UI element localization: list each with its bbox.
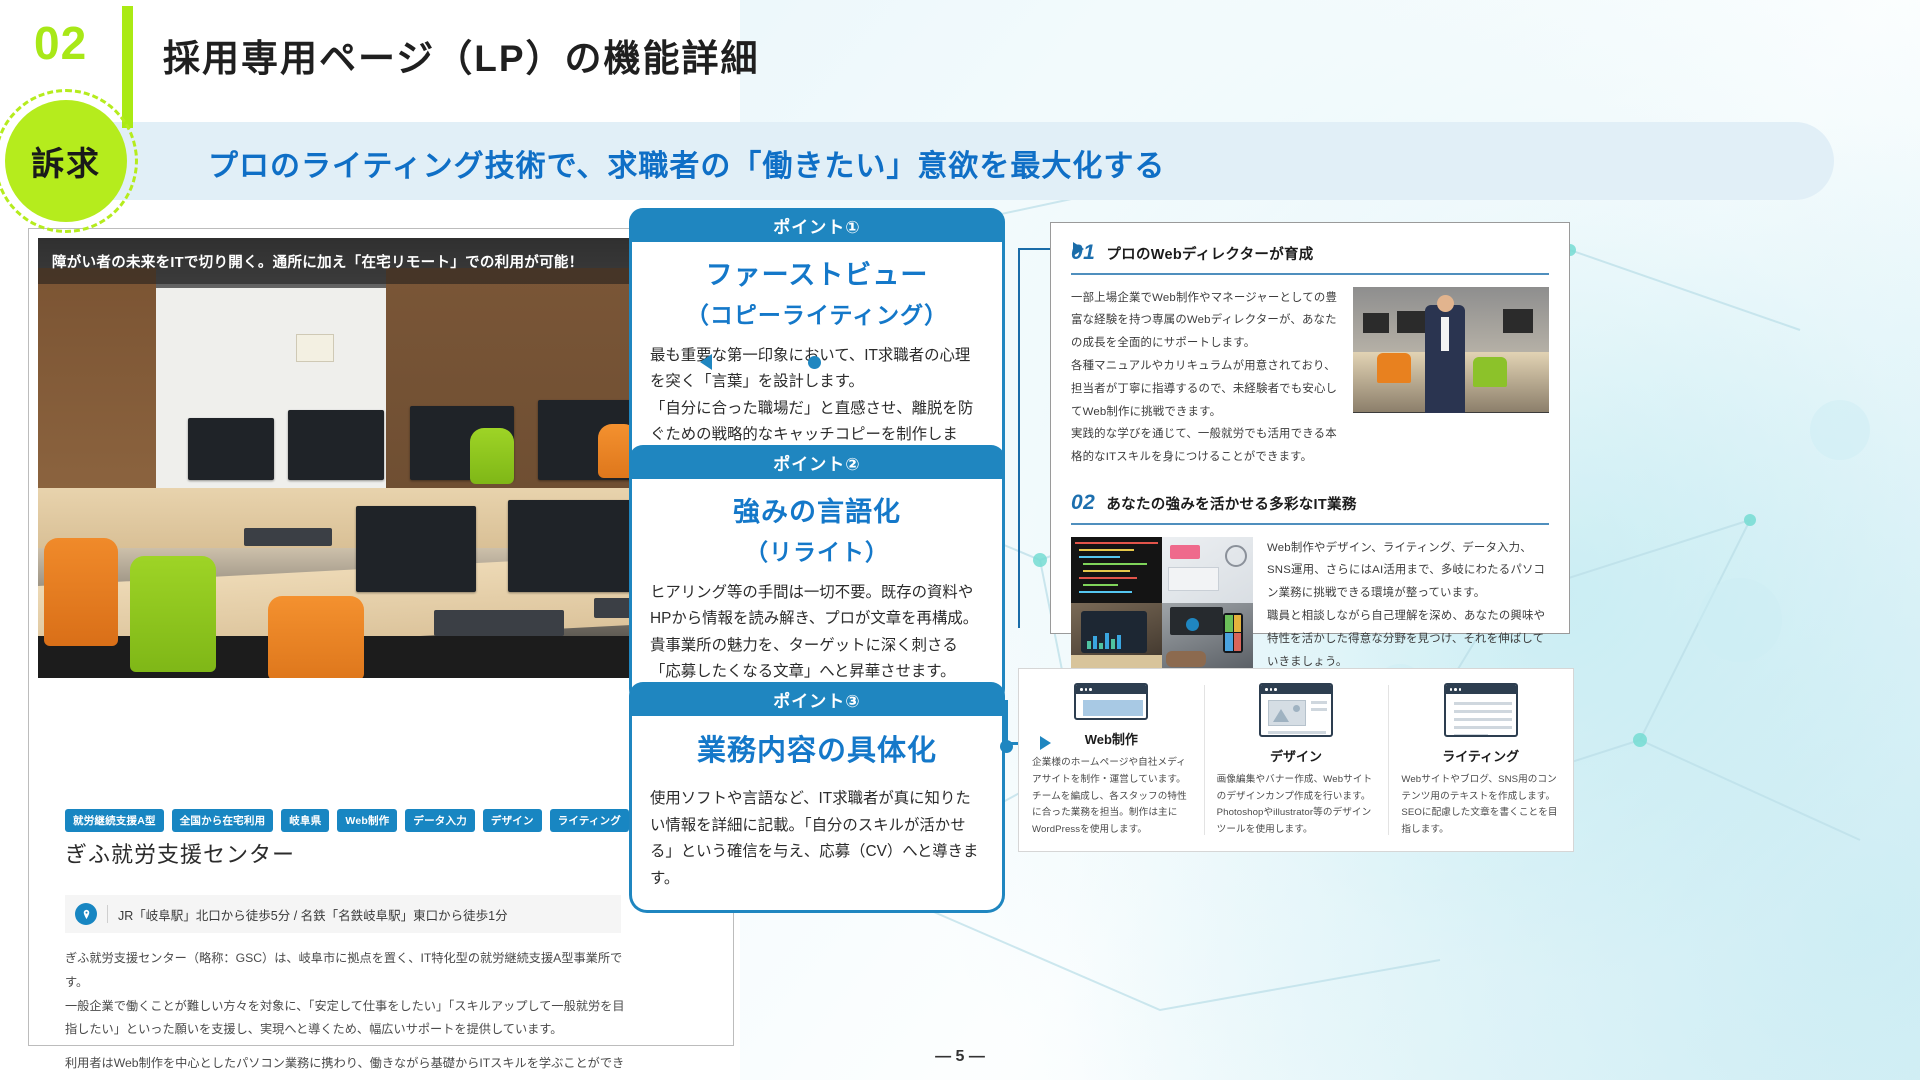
lp-hero-caption: 障がい者の未来をITで切り開く。通所に加え「在宅リモート」での利用が可能！ — [52, 251, 583, 272]
right-section-02-title: あなたの強みを活かせる多彩なIT業務 — [1106, 493, 1356, 514]
lp-hero-caption-bar: 障がい者の未来をITで切り開く。通所に加え「在宅リモート」での利用が可能！ — [38, 238, 726, 284]
lp-description-paragraph: ぎふ就労支援センター（略称：GSC）は、岐阜市に拠点を置く、IT特化型の就労継続… — [65, 947, 625, 1042]
lp-hero-image: 障がい者の未来をITで切り開く。通所に加え「在宅リモート」での利用が可能！ — [38, 238, 726, 678]
page-number: — 5 — — [0, 1048, 1920, 1066]
browser-window-icon — [1074, 683, 1148, 720]
point-card-1-subtitle: （コピーライティング） — [650, 296, 984, 330]
service-card-group: Web制作 企業様のホームページや自社メディアサイトを制作・運営しています。チー… — [1018, 668, 1574, 852]
right-section-02-rule — [1071, 523, 1549, 525]
it-work-collage-photo — [1071, 537, 1253, 669]
section-number: 02 — [34, 20, 87, 66]
lp-access-text: JR「岐阜駅」北口から徒歩5分 / 名鉄「名鉄岐阜駅」東口から徒歩1分 — [118, 905, 508, 924]
document-text-icon — [1444, 683, 1518, 737]
point-card-3-head-label: ポイント③ — [773, 687, 860, 712]
access-divider — [107, 905, 108, 923]
lp-tag: ライティング — [550, 809, 629, 832]
service-card-writing-name: ライティング — [1442, 746, 1519, 765]
point-card-3: ポイント③ 業務内容の具体化 使用ソフトや言語など、IT求職者が真に知りたい情報… — [629, 682, 1005, 913]
point-card-2-subtitle: （リライト） — [650, 533, 984, 567]
page-title: 採用専用ページ（LP）の機能詳細 — [163, 28, 760, 82]
right-detail-panel: 01 プロのWebディレクターが育成 一部上場企業でWeb制作やマネージャーとし… — [1050, 222, 1570, 634]
point-card-2-title: 強みの言語化 — [650, 495, 984, 531]
service-card-web-name: Web制作 — [1085, 729, 1138, 748]
office-photo-illustration — [38, 238, 726, 678]
lp-tag: 全国から在宅利用 — [172, 809, 274, 832]
appeal-badge: 訴求 — [5, 100, 127, 222]
service-card-design-desc: 画像編集やバナー作成、Webサイトのデザインカンプ作成を行います。Photosh… — [1217, 772, 1376, 839]
point-card-1-header: ポイント① — [629, 208, 1005, 242]
lp-tag: 岐阜県 — [281, 809, 329, 832]
service-card-writing: ライティング Webサイトやブログ、SNS用のコンテンツ用のテキストを作成します… — [1388, 669, 1573, 851]
point-card-2-header: ポイント② — [629, 445, 1005, 479]
map-pin-icon — [75, 903, 97, 925]
right-section-01-rule — [1071, 273, 1549, 275]
lp-tag: データ入力 — [405, 809, 475, 832]
lp-tag: Web制作 — [337, 809, 397, 832]
point-card-2-head-label: ポイント② — [773, 450, 860, 475]
right-section-01-title: プロのWebディレクターが育成 — [1106, 243, 1313, 264]
right-section-01: 01 プロのWebディレクターが育成 一部上場企業でWeb制作やマネージャーとし… — [1071, 241, 1549, 469]
lp-access-bar: JR「岐阜駅」北口から徒歩5分 / 名鉄「名鉄岐阜駅」東口から徒歩1分 — [65, 895, 621, 933]
service-card-web: Web制作 企業様のホームページや自社メディアサイトを制作・運営しています。チー… — [1019, 669, 1204, 851]
business-person-photo — [1353, 287, 1549, 413]
lp-tag: 就労継続支援A型 — [65, 809, 164, 832]
point-card-1-head-label: ポイント① — [773, 213, 860, 238]
lp-center-name: ぎふ就労支援センター — [65, 837, 295, 869]
appeal-headline: プロのライティング技術で、求職者の「働きたい」意欲を最大化する — [208, 141, 1165, 185]
service-card-web-desc: 企業様のホームページや自社メディアサイトを制作・運営しています。チームを編成し、… — [1032, 755, 1191, 839]
point-card-2-text: ヒアリング等の手間は一切不要。既存の資料やHPから情報を読み解き、プロが文章を再… — [650, 580, 984, 686]
service-card-writing-desc: Webサイトやブログ、SNS用のコンテンツ用のテキストを作成します。SEOに配慮… — [1401, 772, 1560, 839]
image-editor-icon — [1259, 683, 1333, 737]
service-card-design-name: デザイン — [1270, 746, 1322, 765]
point-card-3-title: 業務内容の具体化 — [650, 732, 984, 770]
point-card-3-body: 業務内容の具体化 使用ソフトや言語など、IT求職者が真に知りたい情報を詳細に記載… — [629, 716, 1005, 913]
slide-root: 02 採用専用ページ（LP）の機能詳細 訴求 プロのライティング技術で、求職者の… — [0, 0, 1920, 1080]
point-card-3-header: ポイント③ — [629, 682, 1005, 716]
point-card-3-text: 使用ソフトや言語など、IT求職者が真に知りたい情報を詳細に記載。「自分のスキルが… — [650, 786, 984, 892]
right-section-02-number: 02 — [1071, 491, 1095, 515]
point-card-2-body: 強みの言語化 （リライト） ヒアリング等の手間は一切不要。既存の資料やHPから情… — [629, 479, 1005, 707]
lp-tag: デザイン — [483, 809, 542, 832]
point-card-2: ポイント② 強みの言語化 （リライト） ヒアリング等の手間は一切不要。既存の資料… — [629, 445, 1005, 707]
appeal-badge-label: 訴求 — [31, 137, 101, 185]
right-section-01-text: 一部上場企業でWeb制作やマネージャーとしての豊富な経験を持つ専属のWebディレ… — [1071, 287, 1339, 470]
lp-tag-list: 就労継続支援A型 全国から在宅利用 岐阜県 Web制作 データ入力 デザイン ラ… — [65, 809, 718, 832]
service-card-design: デザイン 画像編集やバナー作成、Webサイトのデザインカンプ作成を行います。Ph… — [1204, 669, 1389, 851]
title-accent-bar — [122, 6, 133, 128]
point-card-1-title: ファーストビュー — [650, 258, 984, 294]
